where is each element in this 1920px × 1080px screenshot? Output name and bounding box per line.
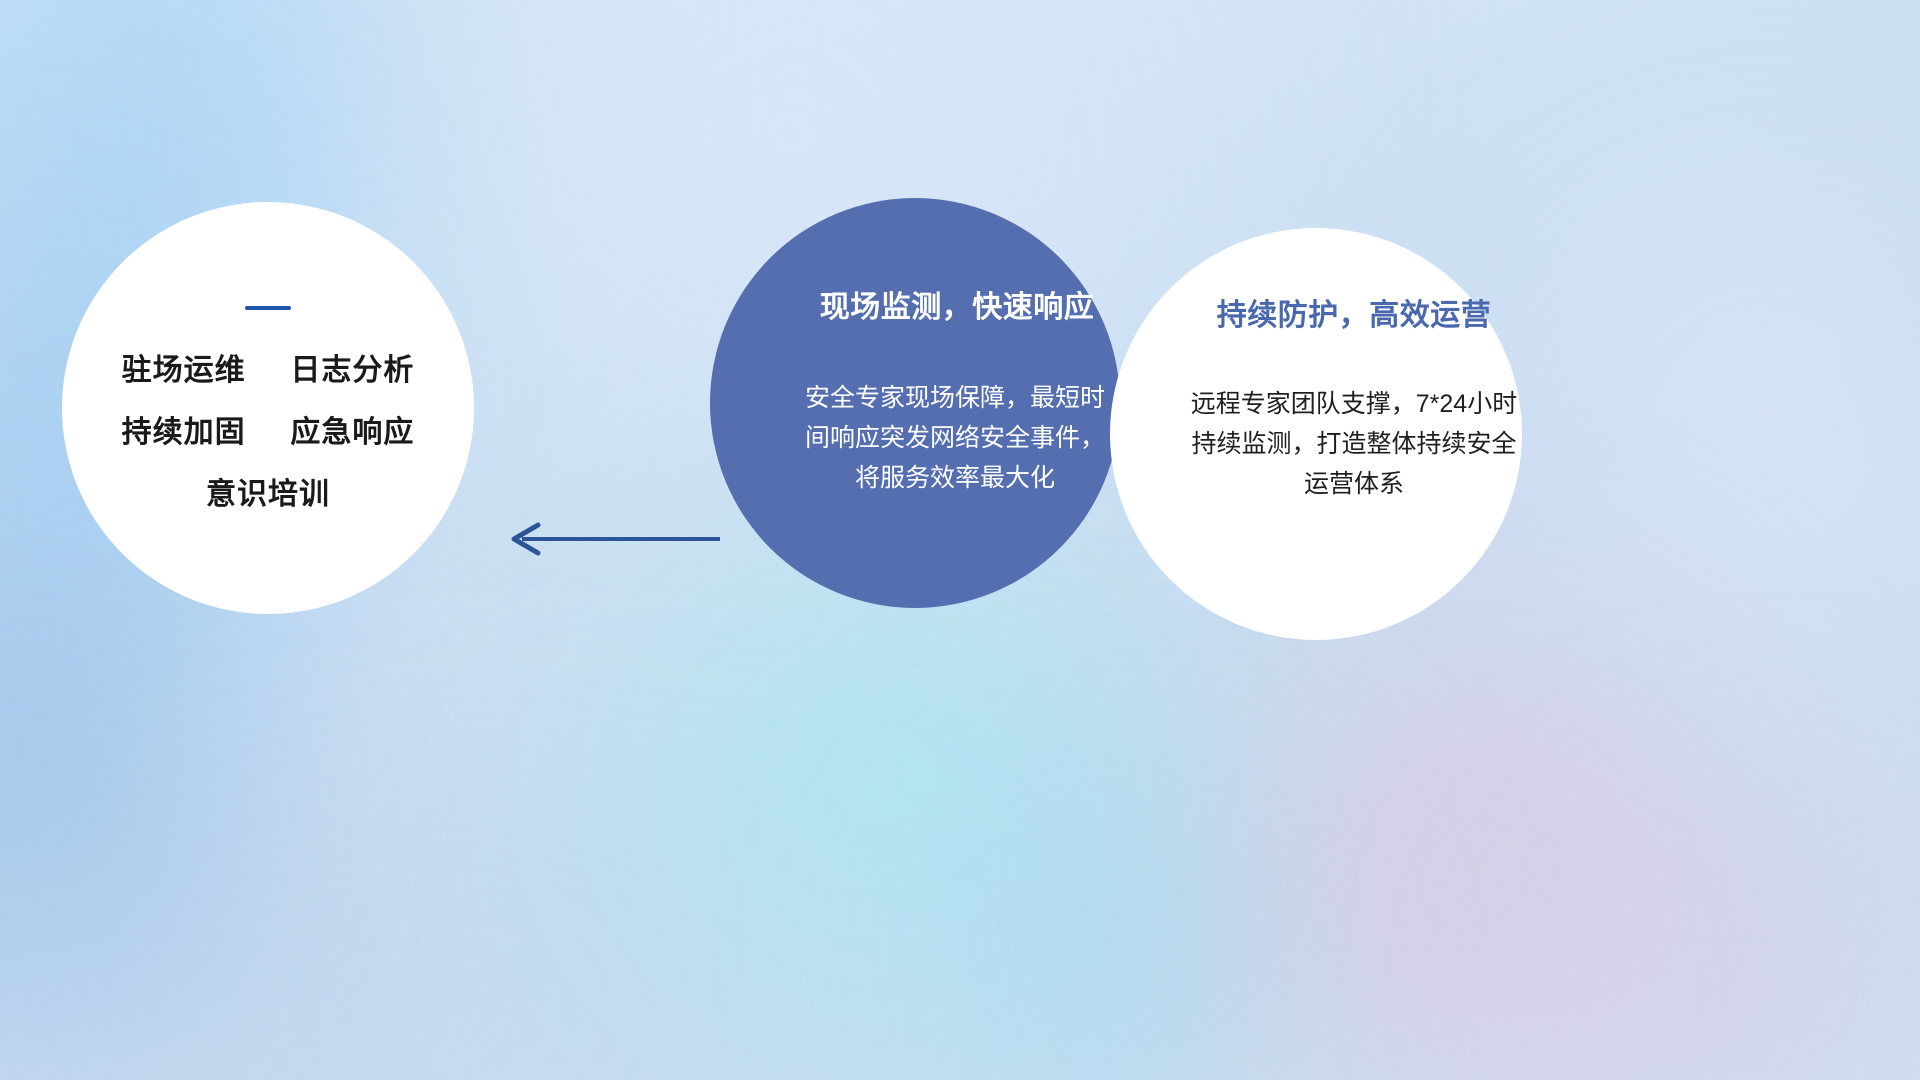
divider-dash-icon [245, 306, 291, 310]
continuous-protection-title: 持续防护，高效运营 [1217, 290, 1492, 334]
capability-row: 驻场运维 日志分析 [122, 356, 415, 386]
capability-keyword-list: 驻场运维 日志分析 持续加固 应急响应 意识培训 [122, 356, 415, 510]
capability-row-last: 意识培训 [122, 480, 415, 510]
slide-canvas: 驻场运维 日志分析 持续加固 应急响应 意识培训 现场监测，快速响应 安全专家现… [0, 0, 1920, 1080]
onsite-monitoring-title: 现场监测，快速响应 [820, 282, 1095, 326]
left-capability-circle[interactable]: 驻场运维 日志分析 持续加固 应急响应 意识培训 [62, 202, 474, 614]
continuous-protection-body: 远程专家团队支撑，7*24小时持续监测，打造整体持续安全运营体系 [1184, 384, 1524, 504]
capability-keyword: 日志分析 [290, 354, 414, 387]
onsite-monitoring-circle[interactable]: 现场监测，快速响应 安全专家现场保障，最短时间响应突发网络安全事件，将服务效率最… [710, 198, 1120, 608]
capability-keyword: 持续加固 [122, 416, 246, 449]
capability-keyword: 驻场运维 [122, 354, 246, 387]
onsite-monitoring-body: 安全专家现场保障，最短时间响应突发网络安全事件，将服务效率最大化 [805, 378, 1105, 498]
continuous-protection-circle[interactable]: 持续防护，高效运营 远程专家团队支撑，7*24小时持续监测，打造整体持续安全运营… [1110, 228, 1522, 640]
flow-arrow [492, 516, 722, 562]
capability-row: 持续加固 应急响应 [122, 418, 415, 448]
capability-keyword: 应急响应 [290, 416, 414, 449]
